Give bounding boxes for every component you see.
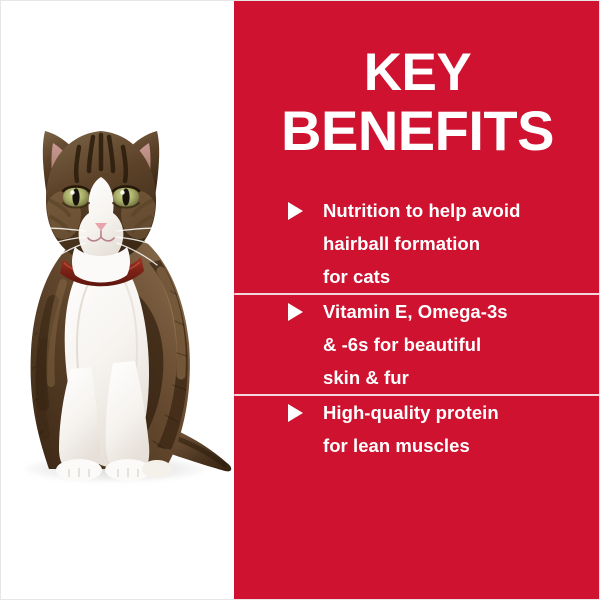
benefit-line: Nutrition to help avoid — [323, 194, 579, 227]
benefit-line: for lean muscles — [323, 429, 579, 462]
benefit-item-3: High-quality protein for lean muscles — [234, 396, 600, 462]
benefits-red-panel: KEY BENEFITS Nutrition to help avoid hai… — [234, 1, 600, 600]
benefit-line: skin & fur — [323, 361, 579, 394]
page-title: KEY BENEFITS — [234, 45, 600, 161]
benefit-line: High-quality protein — [323, 396, 579, 429]
benefit-line: hairball formation — [323, 227, 579, 260]
page-title-line-2: BENEFITS — [234, 101, 600, 160]
cat-photo-panel — [1, 1, 234, 600]
benefit-item-2: Vitamin E, Omega-3s & -6s for beautiful … — [234, 295, 600, 394]
benefit-line: for cats — [323, 260, 579, 293]
key-benefits-card: KEY BENEFITS Nutrition to help avoid hai… — [0, 0, 600, 600]
triangle-right-icon — [288, 404, 303, 422]
benefits-list: Nutrition to help avoid hairball formati… — [234, 194, 600, 462]
triangle-right-icon — [288, 303, 303, 321]
page-title-line-1: KEY — [234, 45, 600, 101]
triangle-right-icon — [288, 202, 303, 220]
benefit-line: Vitamin E, Omega-3s — [323, 295, 579, 328]
benefit-line: & -6s for beautiful — [323, 328, 579, 361]
cat-photo-illustration — [1, 1, 234, 600]
benefit-item-1: Nutrition to help avoid hairball formati… — [234, 194, 600, 293]
